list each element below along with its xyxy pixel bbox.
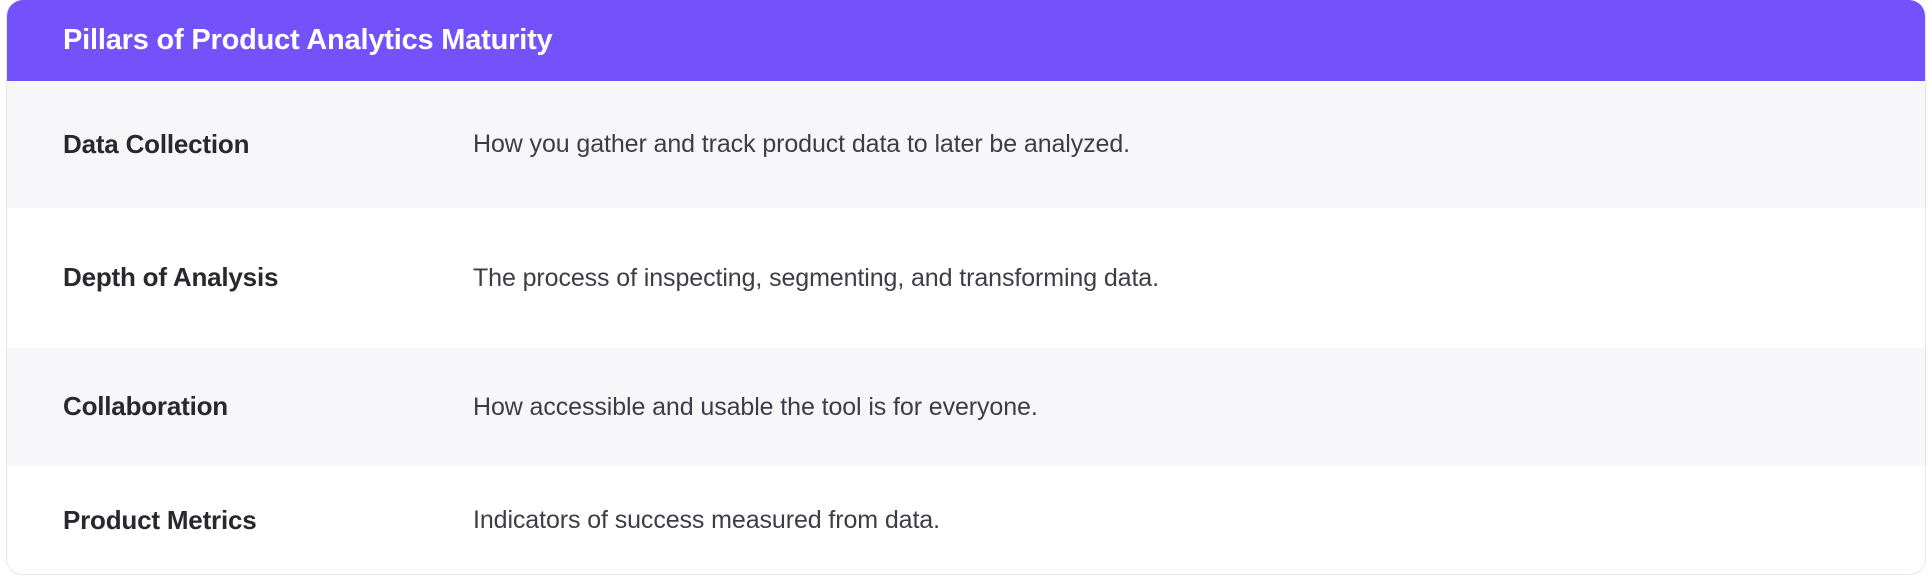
list-item: Depth of Analysis The process of inspect…	[7, 208, 1925, 348]
pillar-description: How you gather and track product data to…	[473, 128, 1925, 161]
list-item: Collaboration How accessible and usable …	[7, 348, 1925, 466]
pillar-term: Data Collection	[63, 129, 473, 160]
page-title: Pillars of Product Analytics Maturity	[63, 26, 552, 55]
pillar-description: Indicators of success measured from data…	[473, 504, 1925, 537]
pillar-term: Product Metrics	[63, 505, 473, 536]
pillar-description: The process of inspecting, segmenting, a…	[473, 262, 1925, 295]
pillar-term: Collaboration	[63, 391, 473, 422]
pillars-card: Pillars of Product Analytics Maturity Da…	[6, 0, 1926, 575]
card-header: Pillars of Product Analytics Maturity	[7, 0, 1925, 81]
pillar-description: How accessible and usable the tool is fo…	[473, 391, 1925, 424]
pillar-term: Depth of Analysis	[63, 262, 473, 293]
list-item: Data Collection How you gather and track…	[7, 81, 1925, 208]
pillars-list: Data Collection How you gather and track…	[7, 81, 1925, 575]
list-item: Product Metrics Indicators of success me…	[7, 466, 1925, 575]
